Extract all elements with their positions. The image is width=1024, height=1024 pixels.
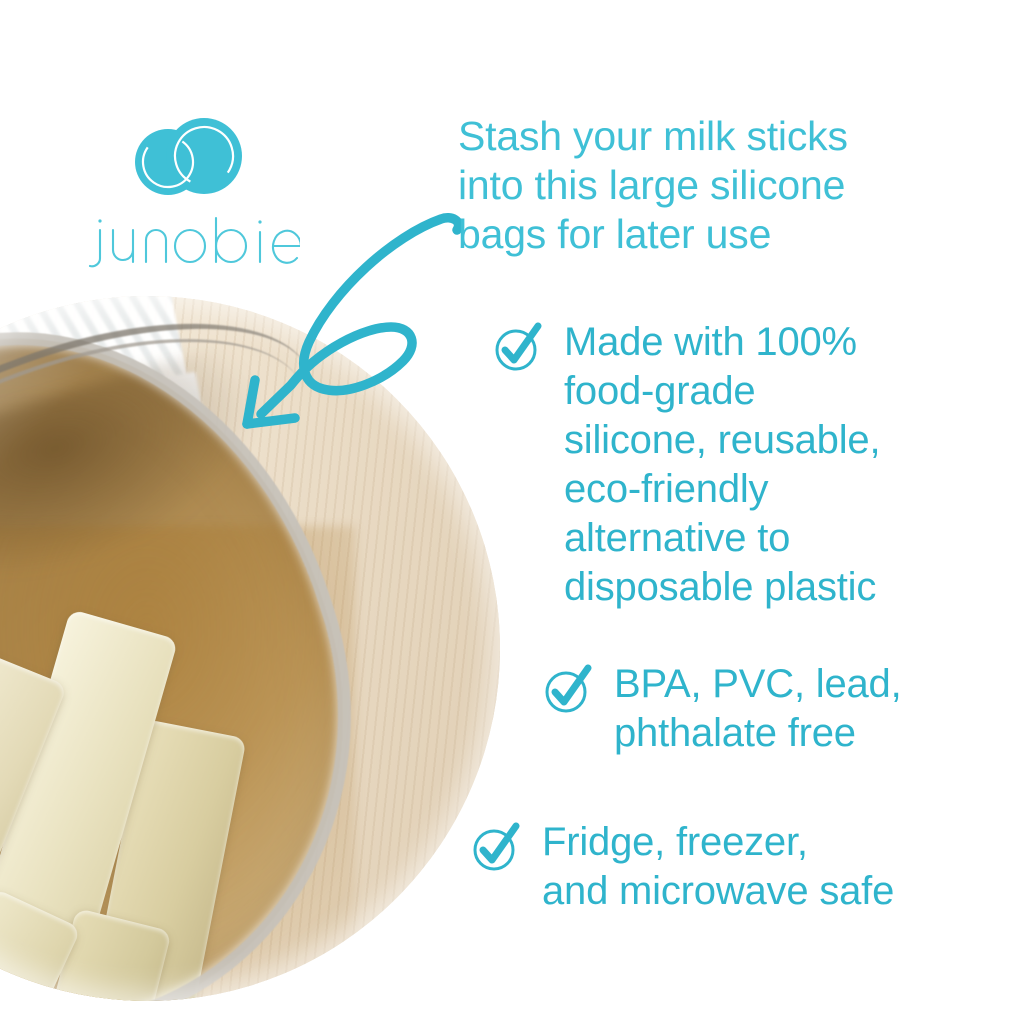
feature-line: and microwave safe — [542, 867, 894, 916]
list-item: BPA, PVC, lead, phthalate free — [542, 660, 902, 758]
list-item: Made with 100% food-grade silicone, reus… — [492, 318, 880, 612]
feature-line: alternative to — [564, 514, 880, 563]
headline-line: bags for later use — [458, 210, 928, 259]
check-circle-icon — [492, 322, 544, 374]
feature-line: phthalate free — [614, 709, 902, 758]
feature-line: BPA, PVC, lead, — [614, 660, 902, 709]
headline-line: into this large silicone — [458, 161, 928, 210]
feature-line: disposable plastic — [564, 563, 880, 612]
headline-line: Stash your milk sticks — [458, 112, 928, 161]
feature-line: food-grade — [564, 367, 880, 416]
feature-line: Made with 100% — [564, 318, 880, 367]
page-title: Stash your milk sticks into this large s… — [458, 112, 928, 259]
two-overlapping-circles-icon — [132, 112, 242, 204]
check-circle-icon — [470, 822, 522, 874]
feature-line: silicone, reusable, — [564, 416, 880, 465]
infographic-canvas: Stash your milk sticks into this large s… — [0, 0, 1024, 1024]
feature-line: Fridge, freezer, — [542, 818, 894, 867]
list-item-label: BPA, PVC, lead, phthalate free — [614, 660, 902, 758]
list-item-label: Made with 100% food-grade silicone, reus… — [564, 318, 880, 612]
list-item-label: Fridge, freezer, and microwave safe — [542, 818, 894, 916]
check-circle-icon — [542, 664, 594, 716]
feature-line: eco-friendly — [564, 465, 880, 514]
list-item: Fridge, freezer, and microwave safe — [470, 818, 894, 916]
curved-looping-arrow-icon — [225, 200, 490, 450]
